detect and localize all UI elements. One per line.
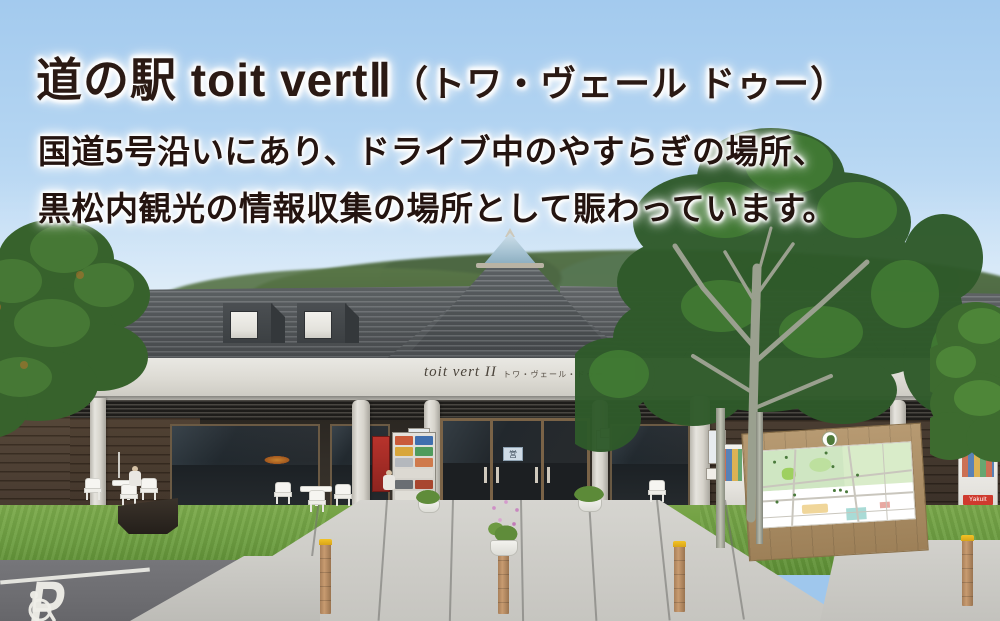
person-body bbox=[129, 471, 141, 486]
skylight-base bbox=[476, 263, 544, 268]
patio-chair-2 bbox=[140, 478, 158, 500]
plaza-tree-trunk-2 bbox=[756, 412, 763, 544]
patio-chair-1 bbox=[84, 478, 102, 500]
bollard-cap bbox=[319, 539, 332, 545]
banner-title-paren: （トワ・ヴェール ドゥー） bbox=[392, 63, 847, 104]
storefront-glass-left bbox=[170, 424, 320, 514]
bollard-cap bbox=[673, 541, 686, 547]
banner-title: 道の駅 toit vertⅡ（トワ・ヴェール ドゥー） bbox=[36, 44, 847, 110]
banner-title-main: 道の駅 toit vertⅡ bbox=[36, 54, 392, 106]
person-body bbox=[383, 475, 395, 490]
dormer-pane bbox=[230, 311, 258, 339]
window-logo-decal bbox=[254, 452, 300, 468]
concrete-column-2 bbox=[352, 400, 370, 516]
pedestrian-near-entrance bbox=[382, 470, 396, 490]
area-guide-map-board[interactable] bbox=[741, 423, 928, 562]
dormer-pane bbox=[304, 311, 332, 339]
notice-poster-4 bbox=[600, 428, 610, 438]
patio-chair-3 bbox=[120, 484, 138, 506]
banner-subtitle-line2: 黒松内観光の情報収集の場所として賑わっています。 bbox=[38, 182, 836, 230]
bollard-right bbox=[674, 546, 685, 612]
patio-chair-5 bbox=[334, 484, 352, 506]
umbrella-pole bbox=[118, 452, 120, 478]
glass-reflection bbox=[612, 426, 688, 464]
shrub-right-entrance bbox=[574, 486, 604, 502]
building-sign-latin: toit vert II bbox=[424, 364, 497, 381]
patio-chair-4 bbox=[274, 482, 292, 504]
bollard-far-right bbox=[962, 540, 973, 606]
door-handle-left[interactable] bbox=[484, 467, 487, 483]
patio-chair-6 bbox=[308, 490, 326, 512]
building-sign-kana: トワ・ヴェール・ドゥー bbox=[503, 369, 604, 380]
concrete-column-5 bbox=[690, 396, 710, 518]
door-handle-4[interactable] bbox=[547, 467, 550, 483]
door-handle-3[interactable] bbox=[535, 467, 538, 483]
patio-chair-7 bbox=[648, 480, 666, 502]
door-handle-right[interactable] bbox=[496, 467, 499, 483]
dormer-window-left bbox=[223, 303, 273, 343]
flower-cluster-center bbox=[486, 498, 530, 544]
right-edge-tree bbox=[930, 300, 1000, 520]
bollard-left bbox=[320, 544, 331, 614]
bollard-center bbox=[498, 546, 509, 614]
map-board-panel bbox=[753, 441, 915, 529]
door-status-sign: 営 bbox=[503, 447, 523, 461]
text-overlay: 道の駅 toit vertⅡ（トワ・ヴェール ドゥー） 国道5号沿いにあり、ドラ… bbox=[0, 0, 1000, 260]
wheelchair-symbol bbox=[14, 588, 70, 621]
banner-subtitle-line1: 国道5号沿いにあり、ドライブ中のやすらぎの場所、 bbox=[38, 125, 826, 173]
bollard-cap bbox=[961, 535, 974, 541]
dormer-window-right bbox=[297, 303, 347, 343]
plaza-tree-trunk-1 bbox=[716, 408, 725, 548]
planter-center bbox=[490, 540, 518, 556]
photo-banner: toit vert II トワ・ヴェール・ドゥー bbox=[0, 0, 1000, 621]
shrub-left-entrance bbox=[416, 490, 440, 504]
seated-visitor bbox=[128, 466, 142, 486]
